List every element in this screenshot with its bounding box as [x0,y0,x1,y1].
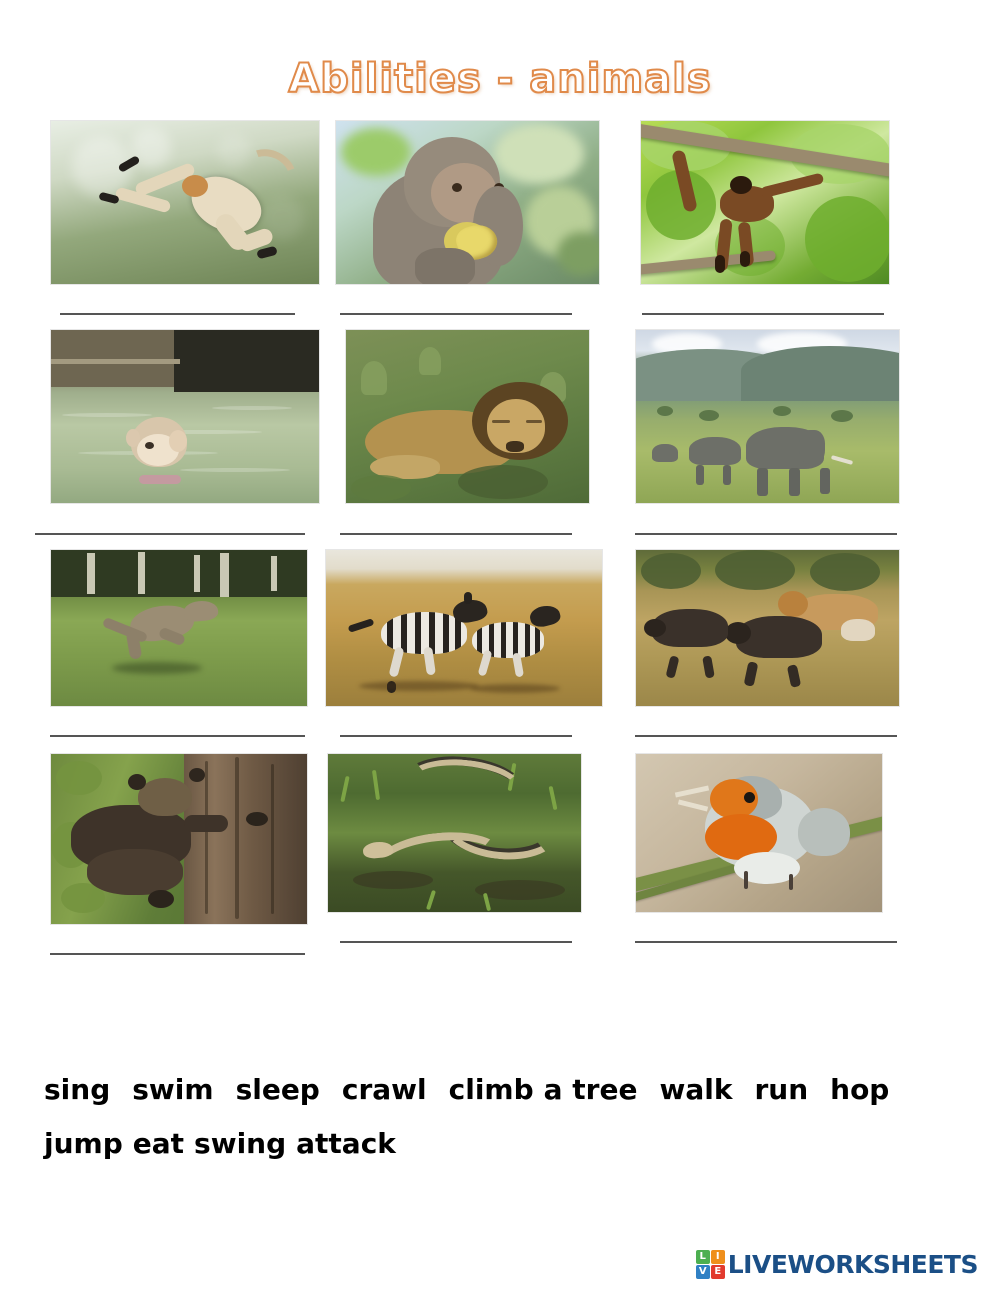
answer-line[interactable] [340,735,572,737]
exercise-item [635,753,1000,955]
exercise-item [635,329,1000,535]
monkey-swimming-photo [50,329,320,504]
word-jump[interactable]: jump [44,1127,123,1160]
bird-singing-photo [635,753,883,913]
picture-row [0,753,1000,955]
kangaroo-hopping-photo [50,549,308,707]
exercise-item [635,120,1000,315]
answer-line[interactable] [340,533,572,535]
answer-line[interactable] [50,953,305,955]
exercise-item [635,549,1000,737]
word-bank-line-1: singswimsleepcrawlclimba treewalkrunhop [44,1063,964,1117]
exercise-item [330,120,635,315]
exercise-item [330,753,635,955]
exercise-item [0,120,330,315]
answer-line[interactable] [642,313,884,315]
snake-crawling-photo [327,753,582,913]
picture-row [0,549,1000,737]
word-eat[interactable]: eat [133,1127,184,1160]
answer-line[interactable] [60,313,295,315]
word-walk[interactable]: walk [659,1073,732,1106]
exercise-item [330,329,635,535]
lion-attacking-buffalo-photo [635,549,900,707]
answer-line[interactable] [340,313,572,315]
word-attack[interactable]: attack [296,1127,396,1160]
exercise-item [0,329,330,535]
word-bank-line-2: jumpeatswingattack [44,1117,964,1171]
liveworksheets-footer[interactable]: L I V E LIVEWORKSHEETS [696,1247,978,1281]
monkey-eating-banana-photo [335,120,600,285]
word-swing[interactable]: swing [194,1127,286,1160]
word-bank: singswimsleepcrawlclimba treewalkrunhop … [44,1063,964,1171]
answer-line[interactable] [635,735,897,737]
answer-line[interactable] [635,533,897,535]
liveworksheets-wordmark: LIVEWORKSHEETS [728,1250,978,1279]
logo-letter-v: V [696,1265,710,1279]
answer-line[interactable] [635,941,897,943]
monkey-jumping-photo [50,120,320,285]
answer-line[interactable] [35,533,305,535]
picture-row [0,120,1000,315]
word-swim[interactable]: swim [132,1073,213,1106]
logo-letter-e: E [711,1265,725,1279]
zebras-running-photo [325,549,603,707]
word-sleep[interactable]: sleep [236,1073,320,1106]
page-title: Abilities - animals [288,56,711,102]
exercise-item [0,549,330,737]
worksheet-body [0,120,1000,955]
word-sing[interactable]: sing [44,1073,110,1106]
logo-letter-l: L [696,1250,710,1264]
exercise-item [330,549,635,737]
answer-line[interactable] [50,735,305,737]
logo-letter-i: I [711,1250,725,1264]
exercise-item [0,753,330,955]
liveworksheets-logo-icon: L I V E [696,1250,725,1279]
word-a-tree[interactable]: a tree [544,1073,638,1106]
word-climb[interactable]: climb [449,1073,534,1106]
picture-row [0,329,1000,535]
answer-line[interactable] [340,941,572,943]
bear-climbing-tree-photo [50,753,308,925]
word-run[interactable]: run [754,1073,808,1106]
page-header: Abilities - animals [0,0,1000,102]
word-hop[interactable]: hop [830,1073,889,1106]
elephants-walking-photo [635,329,900,504]
lion-sleeping-photo [345,329,590,504]
monkey-swinging-photo [640,120,890,285]
word-crawl[interactable]: crawl [342,1073,427,1106]
